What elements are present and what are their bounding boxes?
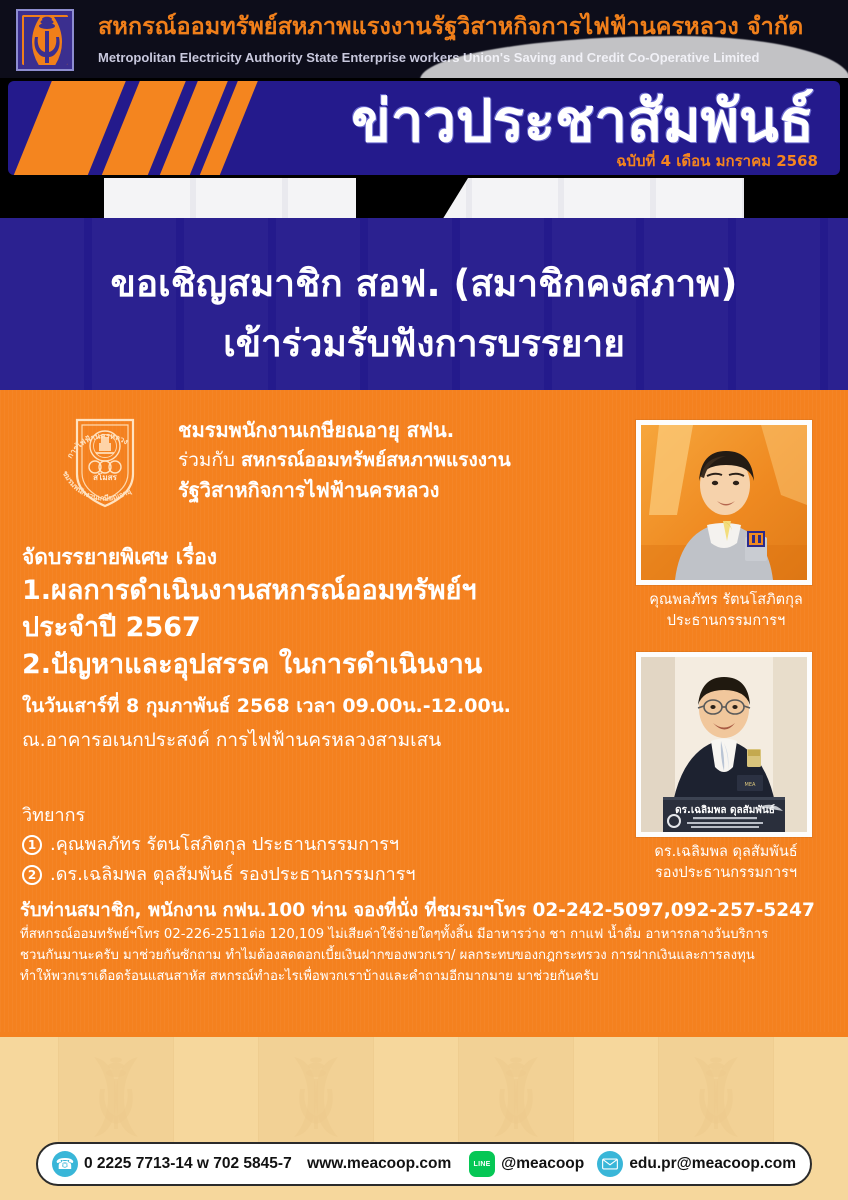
main-content: สโมสร การไฟฟ้านครหลวง ชมรมพนักงานเกษียณอ… bbox=[0, 390, 848, 1032]
email-contact[interactable]: edu.pr@meacoop.com bbox=[597, 1151, 796, 1177]
lecture-datetime: ในวันเสาร์ที่ 8 กุมภาพันธ์ 2568 เวลา 09.… bbox=[22, 689, 622, 723]
page-footer: ☎ 0 2225 7713-14 w 702 5845-7 www.meacoo… bbox=[0, 1032, 848, 1200]
phone-icon: ☎ bbox=[52, 1151, 78, 1177]
phone-number: 0 2225 7713-14 w 702 5845-7 bbox=[84, 1155, 292, 1173]
podium-plate-text: ดร.เฉลิมพล ดุลสัมพันธ์ bbox=[675, 804, 775, 816]
speaker-name: .คุณพลภัทร รัตนโสภิตกุล ประธานกรรมการฯ bbox=[50, 830, 399, 860]
line-badge-text: LINE bbox=[474, 1161, 491, 1168]
speaker-number-badge: 1 bbox=[22, 835, 42, 855]
speakers-block: วิทยากร 1 .คุณพลภัทร รัตนโสภิตกุล ประธาน… bbox=[22, 802, 622, 890]
portrait-chairman-caption: คุณพลภัทร รัตนโสภิตกุล ประธานกรรมการฯ bbox=[620, 590, 832, 632]
hands-holding-torch-icon bbox=[458, 1037, 574, 1155]
poster-root: สหกรณ์ออมทรัพย์สหภาพแรงงานรัฐวิสาหกิจการ… bbox=[0, 0, 848, 1200]
portrait-vice-chairman-caption: ดร.เฉลิมพล ดุลสัมพันธ์ รองประธานกรรมการฯ bbox=[620, 842, 832, 884]
portrait-chairman bbox=[641, 425, 807, 580]
lecture-venue: ณ.อาคารอเนกประสงค์ การไฟฟ้านครหลวงสามเสน bbox=[22, 723, 622, 757]
email-address: edu.pr@meacoop.com bbox=[629, 1155, 796, 1173]
line-app-icon: LINE bbox=[469, 1151, 495, 1177]
hands-holding-torch-icon bbox=[258, 1037, 374, 1155]
banner-issue-label: ฉบับที่ 4 เดือน มกราคม 2568 bbox=[616, 149, 818, 173]
portrait-chairman-frame bbox=[636, 420, 812, 585]
line-contact[interactable]: LINE @meacoop bbox=[469, 1151, 584, 1177]
vice-chairman-role: รองประธานกรรมการฯ bbox=[620, 863, 832, 884]
portrait-vice-chairman: MEA ดร.เฉลิมพล ดุลสัมพันธ์ bbox=[641, 657, 807, 832]
speaker-name: .ดร.เฉลิมพล ดุลสัมพันธ์ รองประธานกรรมการ… bbox=[50, 860, 415, 890]
speaker-row: 2 .ดร.เฉลิมพล ดุลสัมพันธ์ รองประธานกรรมก… bbox=[22, 860, 622, 890]
registration-line-2: ที่สหกรณ์ออมทรัพย์ฯโทร 02-226-2511ต่อ 12… bbox=[20, 924, 836, 945]
footer-watermark-pattern bbox=[0, 1037, 848, 1157]
hands-holding-torch-icon bbox=[58, 1037, 174, 1155]
registration-line-1: รับท่านสมาชิก, พนักงาน กฟน.100 ท่าน จองท… bbox=[20, 898, 836, 924]
lecture-details: จัดบรรยายพิเศษ เรื่อง 1.ผลการดำเนินงานสห… bbox=[22, 542, 622, 757]
svg-text:MEA: MEA bbox=[745, 782, 756, 788]
page-header: สหกรณ์ออมทรัพย์สหภาพแรงงานรัฐวิสาหกิจการ… bbox=[0, 0, 848, 78]
banner-body: ข่าวประชาสัมพันธ์ ฉบับที่ 4 เดือน มกราคม… bbox=[8, 81, 840, 175]
hands-holding-torch-logo bbox=[22, 15, 68, 65]
lecture-topic-1: 1.ผลการดำเนินงานสหกรณ์ออมทรัพย์ฯ bbox=[22, 572, 622, 609]
chairman-name: คุณพลภัทร รัตนโสภิตกุล bbox=[620, 590, 832, 611]
line-id: @meacoop bbox=[501, 1155, 584, 1173]
hands-holding-torch-icon bbox=[658, 1037, 774, 1155]
newsletter-banner: ข่าวประชาสัมพันธ์ ฉบับที่ 4 เดือน มกราคม… bbox=[0, 78, 848, 178]
envelope-icon bbox=[597, 1151, 623, 1177]
intro-line-2-prefix: ร่วมกับ bbox=[178, 449, 241, 471]
headline-line-1: ขอเชิญสมาชิก สอฟ. (สมาชิกคงสภาพ) bbox=[0, 254, 848, 313]
retiree-club-seal: สโมสร การไฟฟ้านครหลวง ชมรมพนักงานเกษียณอ… bbox=[55, 412, 155, 512]
headline-block: ขอเชิญสมาชิก สอฟ. (สมาชิกคงสภาพ) เข้าร่ว… bbox=[0, 218, 848, 390]
coop-logo bbox=[16, 9, 74, 71]
registration-line-4: ทำให้พวกเราเดือดร้อนแสนสาหัส สหกรณ์ทำอะไ… bbox=[20, 966, 836, 987]
intro-line-1: ชมรมพนักงานเกษียณอายุ สฟน. bbox=[178, 415, 618, 445]
speakers-heading: วิทยากร bbox=[22, 802, 622, 830]
contact-bar: ☎ 0 2225 7713-14 w 702 5845-7 www.meacoo… bbox=[36, 1142, 812, 1186]
speaker-row: 1 .คุณพลภัทร รัตนโสภิตกุล ประธานกรรมการฯ bbox=[22, 830, 622, 860]
headline-line-2: เข้าร่วมรับฟังการบรรยาย bbox=[0, 314, 848, 373]
registration-line-3: ชวนกันมานะครับ มาช่วยกันซักถาม ทำไมต้องล… bbox=[20, 945, 836, 966]
website-url: www.meacoop.com bbox=[307, 1155, 451, 1173]
phone-contact[interactable]: ☎ 0 2225 7713-14 w 702 5845-7 bbox=[52, 1151, 292, 1177]
vice-chairman-name: ดร.เฉลิมพล ดุลสัมพันธ์ bbox=[620, 842, 832, 863]
watermark-strip bbox=[0, 178, 848, 218]
portrait-vice-chairman-frame: MEA ดร.เฉลิมพล ดุลสัมพันธ์ bbox=[636, 652, 812, 837]
lecture-lead: จัดบรรยายพิเศษ เรื่อง bbox=[22, 542, 622, 572]
speaker-number-badge: 2 bbox=[22, 865, 42, 885]
website-link[interactable]: www.meacoop.com bbox=[307, 1155, 451, 1173]
registration-note: รับท่านสมาชิก, พนักงาน กฟน.100 ท่าน จองท… bbox=[20, 898, 836, 987]
intro-line-3: รัฐวิสาหกิจการไฟฟ้านครหลวง bbox=[178, 475, 618, 505]
intro-line-2-bold: สหกรณ์ออมทรัพย์สหภาพแรงงาน bbox=[241, 449, 511, 471]
intro-block: ชมรมพนักงานเกษียณอายุ สฟน. ร่วมกับ สหกรณ… bbox=[178, 415, 618, 505]
svg-text:สโมสร: สโมสร bbox=[93, 472, 117, 482]
chairman-role: ประธานกรรมการฯ bbox=[620, 611, 832, 632]
lecture-topic-1-continued: ประจำปี 2567 bbox=[22, 609, 622, 646]
intro-line-2: ร่วมกับ สหกรณ์ออมทรัพย์สหภาพแรงงาน bbox=[178, 445, 618, 475]
lecture-topic-2: 2.ปัญหาและอุปสรรค ในการดำเนินงาน bbox=[22, 646, 622, 683]
